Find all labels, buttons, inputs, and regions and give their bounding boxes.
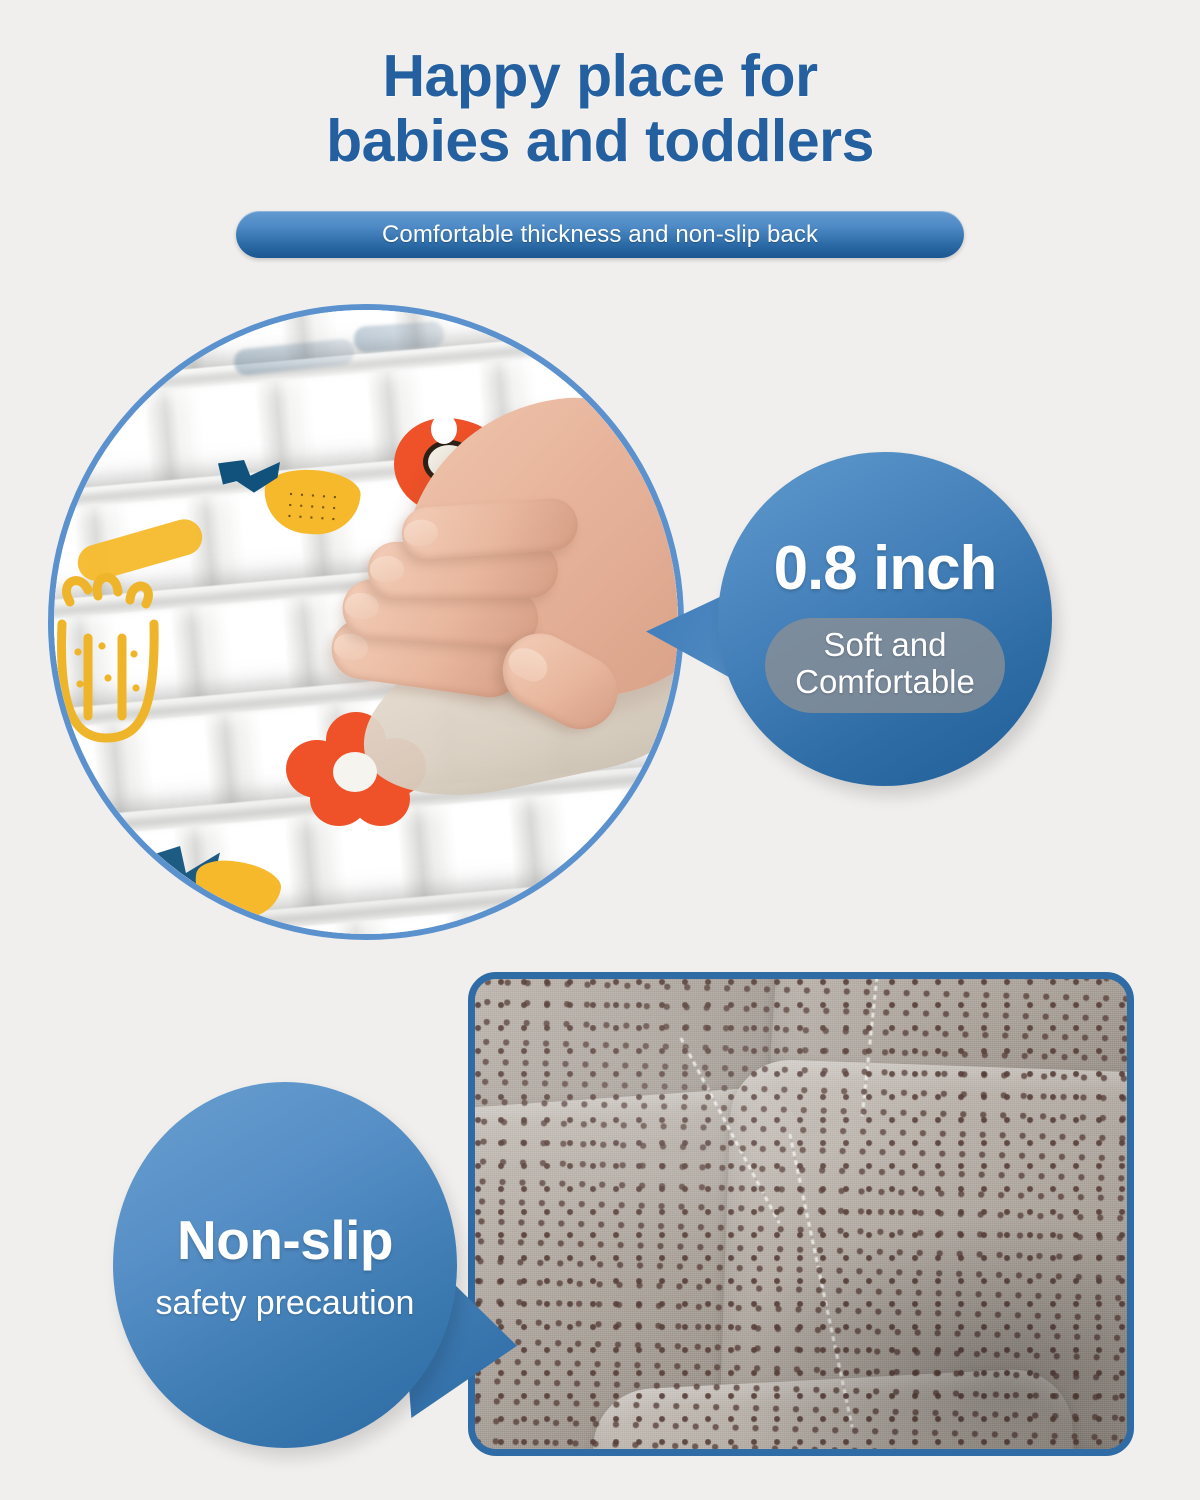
photo-content	[475, 979, 1127, 1449]
thickness-feature-label: Soft and Comfortable	[795, 627, 975, 701]
subtitle-badge: Comfortable thickness and non-slip back	[236, 211, 964, 258]
subtitle-badge-label: Comfortable thickness and non-slip back	[382, 221, 818, 249]
daisy-center	[333, 752, 377, 792]
photo-content	[54, 310, 678, 934]
pineapple-outline-motif	[54, 566, 186, 746]
silicone-dot-grid-secondary	[468, 972, 1134, 1456]
thickness-callout: 0.8 inch Soft and Comfortable	[718, 452, 1052, 786]
headline-line-1: Happy place for	[382, 43, 817, 109]
thickness-value: 0.8 inch	[774, 533, 997, 604]
header: Happy place for babies and toddlers	[0, 44, 1200, 174]
headline-line-2: babies and toddlers	[0, 109, 1200, 174]
nonslip-subtitle: safety precaution	[156, 1284, 415, 1323]
callout-content: 0.8 inch Soft and Comfortable	[718, 452, 1052, 786]
nonslip-title: Non-slip	[177, 1208, 393, 1272]
mattress-topper-photo	[48, 304, 684, 940]
thumbnail	[504, 642, 553, 687]
fingernail	[370, 556, 404, 582]
page-title: Happy place for babies and toddlers	[0, 44, 1200, 174]
fingernail	[344, 592, 380, 620]
thickness-feature-pill: Soft and Comfortable	[765, 618, 1005, 713]
hand-pressing-mattress	[266, 385, 678, 868]
fingernail	[403, 519, 439, 547]
callout-content: Non-slip safety precaution	[113, 1082, 457, 1448]
nonslip-backing-photo	[468, 972, 1134, 1456]
pineapple-outline-icon	[54, 566, 186, 746]
nonslip-callout: Non-slip safety precaution	[113, 1082, 457, 1448]
